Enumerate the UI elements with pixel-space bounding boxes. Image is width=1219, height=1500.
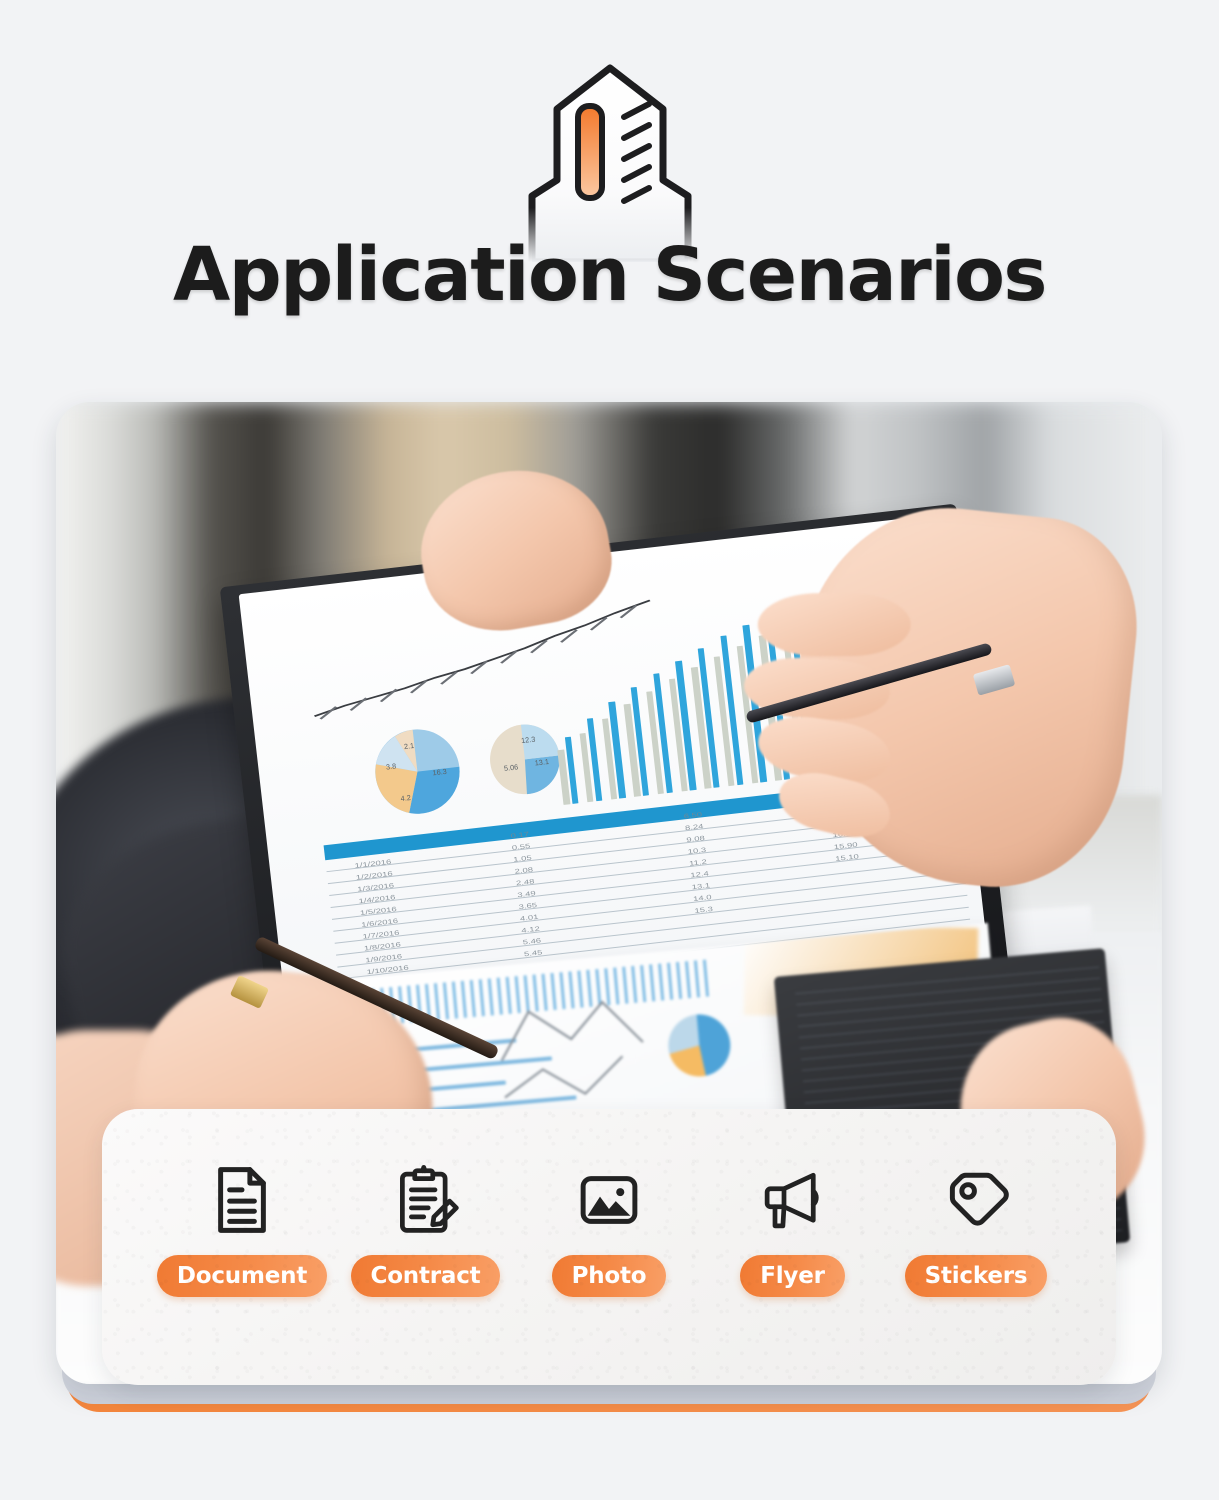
scenario-item-contract[interactable]: Contract [336,1161,516,1297]
svg-text:4.01: 4.01 [520,914,540,923]
application-scenarios-page: Application Scenarios [0,0,1219,1500]
scenario-item-document[interactable]: Document [152,1161,332,1297]
svg-text:1/1/2016: 1/1/2016 [354,859,392,870]
document-icon [203,1161,281,1239]
svg-text:1/7/2016: 1/7/2016 [362,929,400,940]
scenario-list: Document Contract [152,1161,1066,1297]
svg-text:3.8: 3.8 [386,762,397,772]
tag-icon [937,1161,1015,1239]
contract-icon [387,1161,465,1239]
svg-text:10.3: 10.3 [687,847,707,856]
svg-text:9.08: 9.08 [686,835,706,844]
svg-text:2.1: 2.1 [403,741,414,751]
title-row: Application Scenarios [0,238,1219,312]
scenario-item-photo[interactable]: Photo [519,1161,699,1297]
svg-text:6.50: 6.50 [683,811,703,820]
svg-text:15.3: 15.3 [694,906,714,915]
svg-text:1/6/2016: 1/6/2016 [361,918,399,929]
svg-text:5.46: 5.46 [522,937,542,946]
svg-text:11.2: 11.2 [689,859,708,868]
page-header: Application Scenarios [0,0,1219,390]
scenario-label-contract: Contract [351,1255,501,1297]
svg-text:1/5/2016: 1/5/2016 [360,906,398,917]
svg-text:4.12: 4.12 [521,925,541,934]
svg-text:15.10: 15.10 [835,853,860,863]
svg-text:12.4: 12.4 [690,870,710,879]
svg-text:15.90: 15.90 [834,841,859,851]
svg-text:2.08: 2.08 [514,866,534,875]
scenario-item-flyer[interactable]: Flyer [703,1161,883,1297]
megaphone-icon [754,1161,832,1239]
svg-text:2.48: 2.48 [516,878,536,887]
svg-text:8.24: 8.24 [685,823,705,832]
scenario-label-stickers: Stickers [905,1255,1048,1297]
scenario-feature-card: Document Contract [102,1109,1116,1385]
svg-text:1.05: 1.05 [513,855,533,864]
scenario-label-document: Document [157,1255,327,1297]
svg-text:1/2/2016: 1/2/2016 [356,870,394,881]
scenario-label-photo: Photo [552,1255,667,1297]
svg-text:1/4/2016: 1/4/2016 [358,894,396,905]
svg-text:1/3/2016: 1/3/2016 [357,882,395,893]
svg-text:4.2: 4.2 [400,793,411,803]
svg-text:0.17: 0.17 [510,831,530,840]
svg-text:1/9/2016: 1/9/2016 [365,953,403,964]
svg-text:0.55: 0.55 [512,843,532,852]
scenario-label-flyer: Flyer [740,1255,845,1297]
photo-icon [570,1161,648,1239]
svg-text:14.0: 14.0 [693,894,713,903]
scenario-item-stickers[interactable]: Stickers [886,1161,1066,1297]
svg-text:13.1: 13.1 [692,882,712,891]
svg-text:1/8/2016: 1/8/2016 [364,941,402,952]
svg-text:5.45: 5.45 [524,949,544,958]
svg-text:3.65: 3.65 [518,902,538,911]
svg-text:3.49: 3.49 [517,890,537,899]
page-title: Application Scenarios [173,238,1046,312]
